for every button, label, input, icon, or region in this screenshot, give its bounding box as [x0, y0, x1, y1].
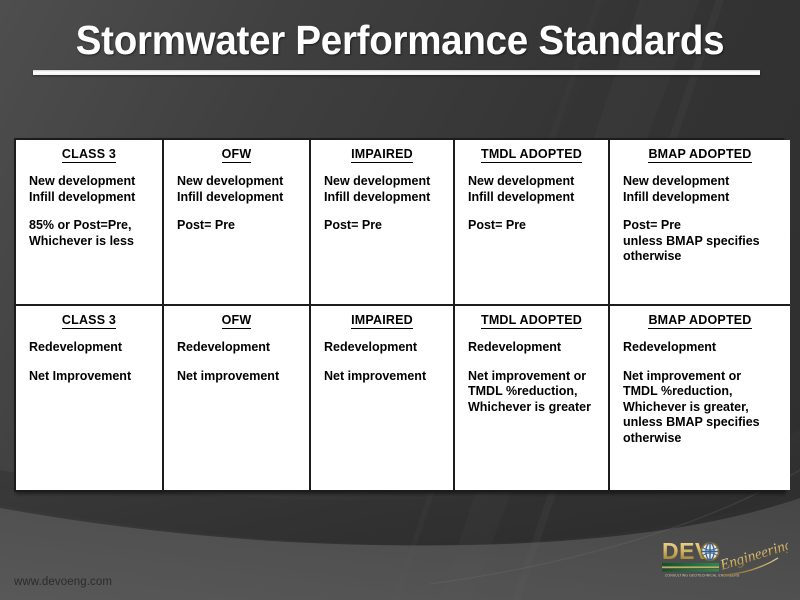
column-header-impaired: IMPAIRED: [311, 313, 453, 327]
title-block: Stormwater Performance Standards: [0, 16, 800, 64]
table-cell-redev-tmdl: TMDL ADOPTED Redevelopment Net improveme…: [454, 305, 609, 490]
cell-paragraph: Redevelopment: [177, 340, 303, 356]
column-header-class3: CLASS 3: [16, 313, 162, 327]
cell-paragraph: New development Infill development: [623, 174, 784, 205]
table-cell-newdev-tmdl: TMDL ADOPTED New development Infill deve…: [454, 140, 609, 305]
cell-paragraph: Redevelopment: [324, 340, 447, 356]
cell-paragraph: Redevelopment: [29, 340, 156, 356]
cell-body: Redevelopment Net Improvement: [16, 340, 162, 384]
column-header-tmdl-adopted: TMDL ADOPTED: [455, 147, 608, 161]
cell-body: Redevelopment Net improvement: [164, 340, 309, 384]
cell-paragraph: Post= Pre unless BMAP specifies otherwis…: [623, 218, 784, 265]
table-cell-newdev-class3: CLASS 3 New development Infill developme…: [16, 140, 163, 305]
stormwater-standards-table: CLASS 3 New development Infill developme…: [14, 138, 784, 492]
cell-paragraph: Net improvement: [177, 369, 303, 385]
cell-paragraph: New development Infill development: [177, 174, 303, 205]
cell-paragraph: Net improvement or TMDL %reduction, Whic…: [623, 369, 784, 447]
table-row: CLASS 3 Redevelopment Net Improvement OF…: [16, 305, 790, 490]
cell-body: New development Infill development Post=…: [311, 174, 453, 234]
cell-body: New development Infill development Post=…: [164, 174, 309, 234]
devo-engineering-logo: DEV CONSULTING GEOTECHNICAL ENGINEERS En…: [660, 534, 788, 586]
cell-body: Redevelopment Net improvement or TMDL %r…: [455, 340, 608, 415]
table-cell-newdev-impaired: IMPAIRED New development Infill developm…: [310, 140, 454, 305]
cell-paragraph: 85% or Post=Pre, Whichever is less: [29, 218, 156, 249]
page-title: Stormwater Performance Standards: [24, 16, 776, 64]
title-underline-rule: [33, 70, 760, 75]
table-row: CLASS 3 New development Infill developme…: [16, 140, 790, 305]
table-cell-newdev-ofw: OFW New development Infill development P…: [163, 140, 310, 305]
table-cell-redev-class3: CLASS 3 Redevelopment Net Improvement: [16, 305, 163, 490]
presentation-slide: Stormwater Performance Standards CLASS 3…: [0, 0, 800, 600]
cell-body: Redevelopment Net improvement: [311, 340, 453, 384]
globe-icon: [701, 543, 718, 560]
cell-paragraph: Redevelopment: [468, 340, 602, 356]
table-cell-redev-impaired: IMPAIRED Redevelopment Net improvement: [310, 305, 454, 490]
logo-script-text: Engineering: [718, 537, 788, 574]
cell-paragraph: Redevelopment: [623, 340, 784, 356]
column-header-impaired: IMPAIRED: [311, 147, 453, 161]
cell-paragraph: New development Infill development: [468, 174, 602, 205]
table-cell-redev-ofw: OFW Redevelopment Net improvement: [163, 305, 310, 490]
cell-paragraph: Post= Pre: [177, 218, 303, 234]
column-header-ofw: OFW: [164, 147, 309, 161]
cell-paragraph: New development Infill development: [324, 174, 447, 205]
column-header-ofw: OFW: [164, 313, 309, 327]
cell-paragraph: Post= Pre: [324, 218, 447, 234]
cell-paragraph: Post= Pre: [468, 218, 602, 234]
cell-paragraph: New development Infill development: [29, 174, 156, 205]
column-header-bmap-adopted: BMAP ADOPTED: [610, 313, 790, 327]
table-cell-newdev-bmap: BMAP ADOPTED New development Infill deve…: [609, 140, 790, 305]
cell-body: New development Infill development 85% o…: [16, 174, 162, 249]
cell-body: New development Infill development Post=…: [455, 174, 608, 234]
column-header-bmap-adopted: BMAP ADOPTED: [610, 147, 790, 161]
cell-body: New development Infill development Post=…: [610, 174, 790, 265]
footer-website-url: www.devoeng.com: [14, 576, 112, 588]
cell-paragraph: Net improvement or TMDL %reduction, Whic…: [468, 369, 602, 416]
cell-body: Redevelopment Net improvement or TMDL %r…: [610, 340, 790, 446]
cell-paragraph: Net improvement: [324, 369, 447, 385]
column-header-tmdl-adopted: TMDL ADOPTED: [455, 313, 608, 327]
table-cell-redev-bmap: BMAP ADOPTED Redevelopment Net improveme…: [609, 305, 790, 490]
cell-paragraph: Net Improvement: [29, 369, 156, 385]
column-header-class3: CLASS 3: [16, 147, 162, 161]
